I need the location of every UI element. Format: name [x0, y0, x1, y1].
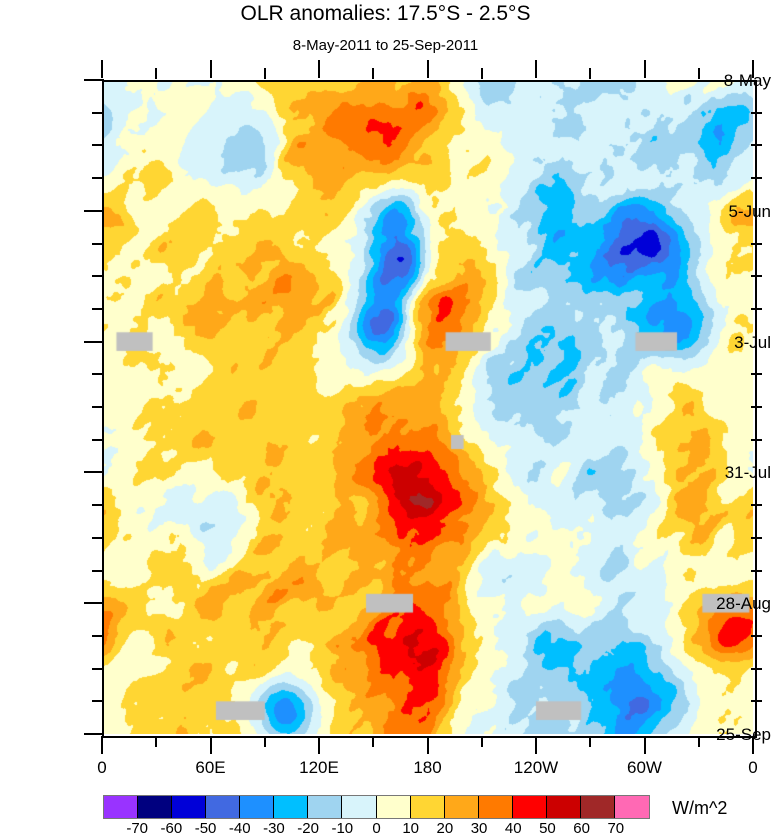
y-minor-tick: [751, 570, 762, 572]
y-minor-tick: [92, 177, 103, 179]
y-minor-tick: [92, 504, 103, 506]
y-minor-tick: [92, 570, 103, 572]
x-major-tick: [427, 736, 429, 754]
x-major-tick-top: [318, 60, 320, 78]
colorbar-swatch: [342, 796, 376, 818]
y-minor-tick: [751, 504, 762, 506]
colorbar-unit-label: W/m^2: [672, 798, 727, 819]
x-tick-label: 60W: [610, 758, 680, 778]
y-minor-tick: [751, 537, 762, 539]
y-tick-label: 28-Aug: [683, 594, 771, 614]
x-tick-label: 120W: [501, 758, 571, 778]
x-major-tick-top: [644, 60, 646, 78]
y-minor-tick: [92, 537, 103, 539]
y-minor-tick: [92, 112, 103, 114]
y-minor-tick: [92, 700, 103, 702]
y-minor-tick: [751, 373, 762, 375]
x-minor-tick: [481, 736, 483, 747]
colorbar-swatch: [377, 796, 411, 818]
x-major-tick: [644, 736, 646, 754]
plot-area: [102, 80, 753, 734]
colorbar-tick-label: 70: [596, 820, 636, 837]
colorbar-swatch: [172, 796, 206, 818]
colorbar-swatch: [445, 796, 479, 818]
y-minor-tick: [751, 308, 762, 310]
x-major-tick-top: [535, 60, 537, 78]
y-minor-tick: [751, 177, 762, 179]
y-major-tick: [84, 341, 104, 343]
y-minor-tick: [92, 668, 103, 670]
y-major-tick: [84, 471, 104, 473]
chart-subtitle: 8-May-2011 to 25-Sep-2011: [0, 37, 771, 54]
x-minor-tick: [698, 736, 700, 747]
x-minor-tick: [155, 68, 157, 79]
x-minor-tick: [589, 68, 591, 79]
y-minor-tick: [751, 406, 762, 408]
y-major-tick: [84, 602, 104, 604]
page-title: OLR anomalies: 17.5°S - 2.5°S: [0, 2, 771, 26]
x-minor-tick: [372, 736, 374, 747]
y-major-tick: [84, 210, 104, 212]
colorbar-swatch: [513, 796, 547, 818]
colorbar: [103, 795, 650, 819]
x-tick-label: 60E: [176, 758, 246, 778]
y-minor-tick: [92, 373, 103, 375]
y-minor-tick: [751, 635, 762, 637]
x-major-tick: [101, 736, 103, 754]
y-minor-tick: [92, 308, 103, 310]
x-major-tick: [210, 736, 212, 754]
colorbar-swatch: [547, 796, 581, 818]
x-major-tick: [318, 736, 320, 754]
y-minor-tick: [751, 700, 762, 702]
y-tick-label: 3-Jul: [683, 333, 771, 353]
x-minor-tick: [481, 68, 483, 79]
y-minor-tick: [751, 275, 762, 277]
x-major-tick-top: [101, 60, 103, 78]
x-tick-label: 0: [67, 758, 137, 778]
x-major-tick-top: [427, 60, 429, 78]
x-major-tick: [535, 736, 537, 754]
y-minor-tick: [92, 243, 103, 245]
y-major-tick: [84, 79, 104, 81]
y-tick-label: 8-May: [683, 71, 771, 91]
y-minor-tick: [751, 144, 762, 146]
y-tick-label: 25-Sep: [683, 725, 771, 745]
colorbar-swatch: [308, 796, 342, 818]
colorbar-swatch: [615, 796, 649, 818]
x-minor-tick: [372, 68, 374, 79]
x-minor-tick: [155, 736, 157, 747]
x-minor-tick: [264, 68, 266, 79]
y-tick-label: 5-Jun: [683, 202, 771, 222]
y-major-tick: [84, 733, 104, 735]
x-major-tick-top: [210, 60, 212, 78]
x-major-tick-top: [752, 60, 754, 78]
y-minor-tick: [751, 243, 762, 245]
x-minor-tick: [589, 736, 591, 747]
y-minor-tick: [751, 439, 762, 441]
y-minor-tick: [92, 406, 103, 408]
y-tick-label: 31-Jul: [683, 463, 771, 483]
colorbar-swatch: [581, 796, 615, 818]
y-minor-tick: [92, 635, 103, 637]
y-minor-tick: [92, 275, 103, 277]
y-minor-tick: [751, 112, 762, 114]
hovmoller-figure: OLR anomalies: 17.5°S - 2.5°S 8-May-2011…: [0, 0, 771, 834]
x-tick-label: 120E: [284, 758, 354, 778]
y-minor-tick: [751, 668, 762, 670]
x-tick-label: 180: [393, 758, 463, 778]
colorbar-swatch: [104, 796, 138, 818]
olr-anomaly-heatmap: [102, 80, 753, 734]
colorbar-swatch: [479, 796, 513, 818]
colorbar-swatch: [411, 796, 445, 818]
y-minor-tick: [92, 144, 103, 146]
x-minor-tick: [698, 68, 700, 79]
y-minor-tick: [92, 439, 103, 441]
colorbar-swatch: [240, 796, 274, 818]
x-major-tick: [752, 736, 754, 754]
colorbar-swatch: [274, 796, 308, 818]
x-minor-tick: [264, 736, 266, 747]
x-tick-label: 0: [718, 758, 771, 778]
colorbar-swatch: [206, 796, 240, 818]
colorbar-swatch: [138, 796, 172, 818]
